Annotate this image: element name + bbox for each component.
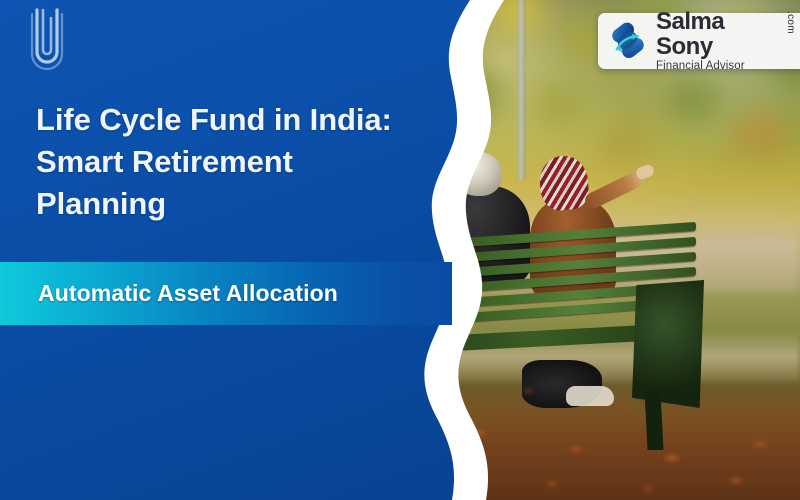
logo-tagline: Financial Advisor (656, 60, 796, 72)
blue-content-panel (0, 0, 470, 500)
promotional-banner: Life Cycle Fund in India: Smart Retireme… (0, 0, 800, 500)
man-figure-head (456, 152, 502, 196)
logo-brand-name: Salma Sony (656, 10, 783, 59)
park-bench-photo (400, 0, 800, 500)
page-title: Life Cycle Fund in India: Smart Retireme… (36, 99, 428, 225)
headline-line-2: Smart Retirement (36, 141, 428, 183)
brand-logo[interactable]: Salma Sony .com Financial Advisor (598, 13, 800, 69)
logo-tld: .com (785, 11, 796, 34)
fallen-leaves (400, 360, 800, 500)
headline-line-1: Life Cycle Fund in India: (36, 99, 428, 141)
woman-figure-headscarf (538, 154, 591, 212)
subtitle-band: Automatic Asset Allocation (0, 262, 452, 325)
headline-line-3: Planning (36, 183, 428, 225)
logo-name-row: Salma Sony .com (656, 10, 796, 59)
woman-pointing-arm (582, 170, 645, 212)
stylized-s-arrow-logo-mark (607, 20, 649, 62)
subtitle-text: Automatic Asset Allocation (38, 262, 338, 325)
paperclip-icon (30, 8, 64, 74)
logo-wordmark: Salma Sony .com Financial Advisor (656, 10, 796, 72)
